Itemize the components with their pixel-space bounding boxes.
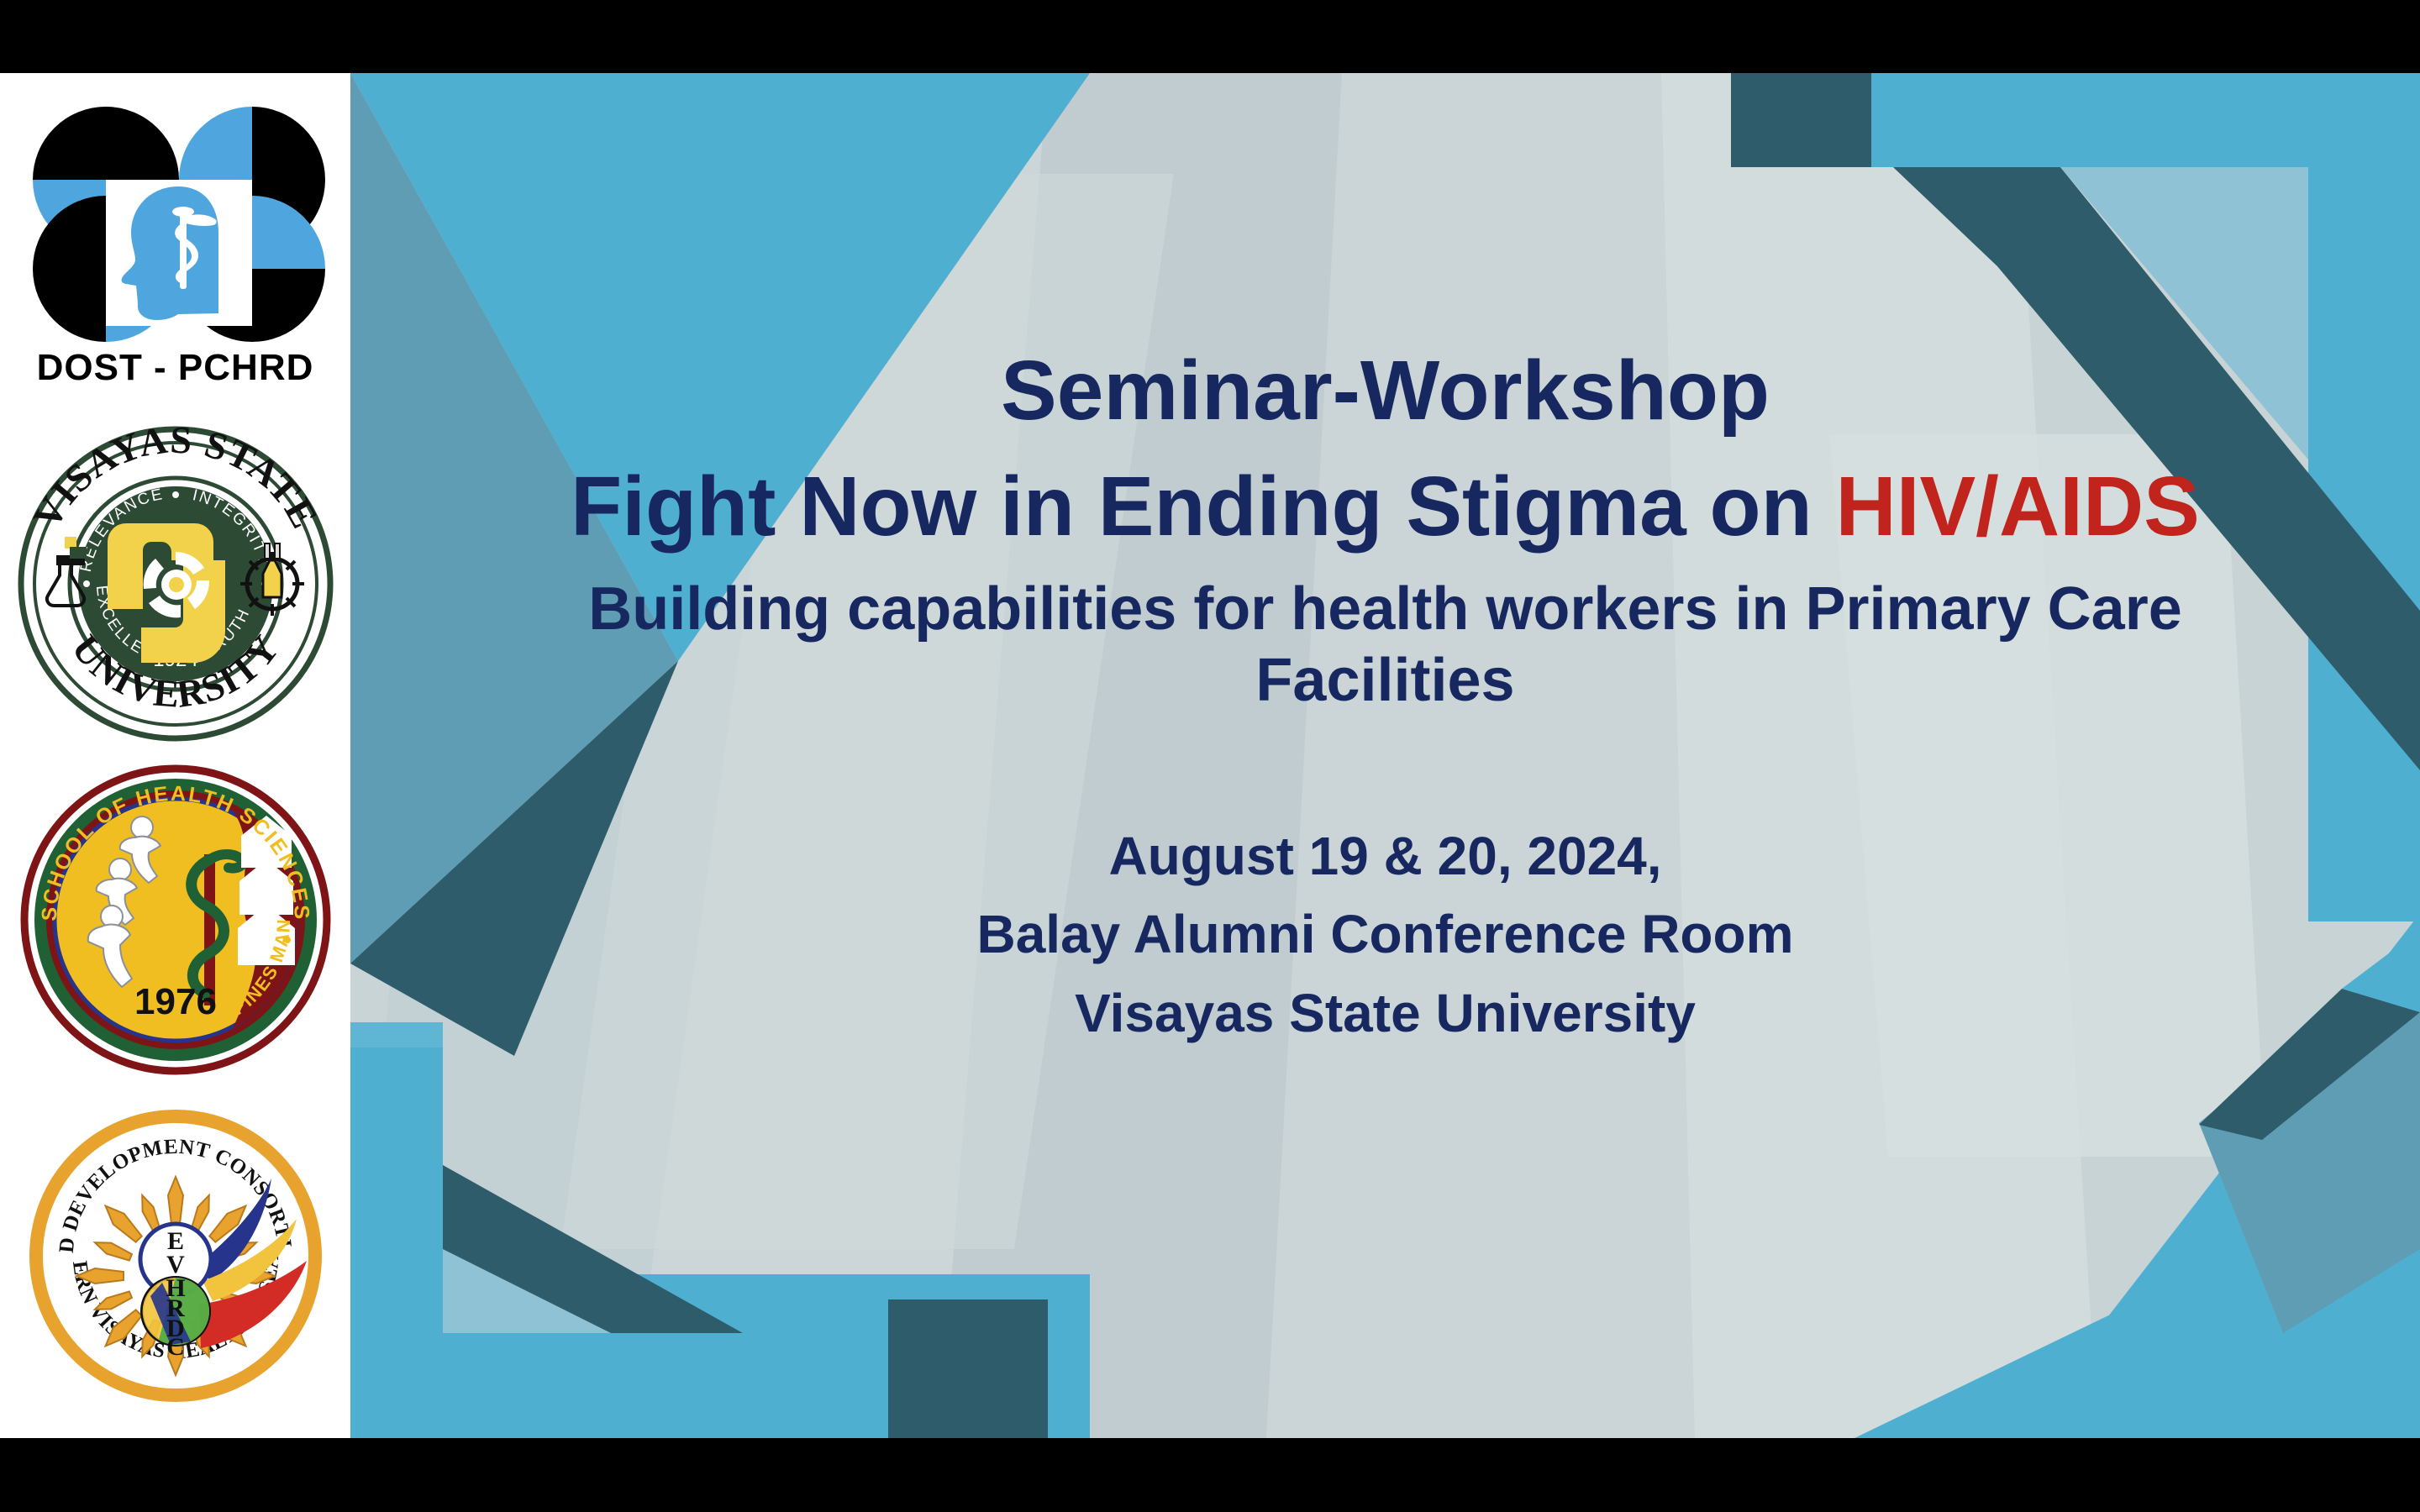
page-title: Seminar-Workshop	[401, 344, 2370, 438]
letterbox-top	[0, 0, 2420, 73]
event-details: August 19 & 20, 2024, Balay Alumni Confe…	[401, 817, 2370, 1053]
slide-content: Seminar-Workshop Fight Now in Ending Sti…	[350, 73, 2420, 1438]
shs-seal-icon: 1976 SCHOOL OF HEALTH SCIENCES UNIVERSIT…	[18, 762, 334, 1078]
slide-frame: DOST - PCHRD	[0, 0, 2420, 1512]
page-description: Building capabilities for health workers…	[491, 574, 2281, 717]
logo-dost-pchrd: DOST - PCHRD	[8, 73, 344, 416]
pchrd-mark-icon	[33, 107, 318, 342]
event-institution: Visayas State University	[401, 974, 2370, 1053]
page-subtitle-headline: Fight Now in Ending Stigma on HIV/AIDS	[401, 459, 2370, 554]
vsu-seal-icon: VISAYAS STATE UNIVERSITY RELEVANCE INTEG…	[16, 424, 335, 743]
headline-accent-hiv-aids: HIV/AIDS	[1835, 459, 2199, 554]
logo-visayas-state-university: VISAYAS STATE UNIVERSITY RELEVANCE INTEG…	[8, 416, 344, 752]
headline-prefix: Fight Now in Ending Stigma on	[571, 459, 1835, 554]
evhrdc-seal-icon: AND DEVELOPMENT CONSORTIUM EASTERN VISAY…	[19, 1100, 332, 1412]
letterbox-bottom	[0, 1438, 2420, 1512]
event-venue: Balay Alumni Conference Room	[401, 895, 2370, 974]
dost-pchrd-label: DOST - PCHRD	[37, 347, 314, 389]
logo-up-manila-shs: 1976 SCHOOL OF HEALTH SCIENCES UNIVERSIT…	[8, 752, 344, 1088]
slide-area: DOST - PCHRD	[0, 73, 2420, 1438]
event-date: August 19 & 20, 2024,	[401, 817, 2370, 895]
logo-evhrdc: AND DEVELOPMENT CONSORTIUM EASTERN VISAY…	[8, 1088, 344, 1424]
head-caduceus-icon	[113, 184, 247, 323]
slide-text-block: Seminar-Workshop Fight Now in Ending Sti…	[350, 73, 2420, 1053]
logo-sidebar: DOST - PCHRD	[0, 73, 350, 1438]
svg-text:C: C	[166, 1333, 185, 1361]
